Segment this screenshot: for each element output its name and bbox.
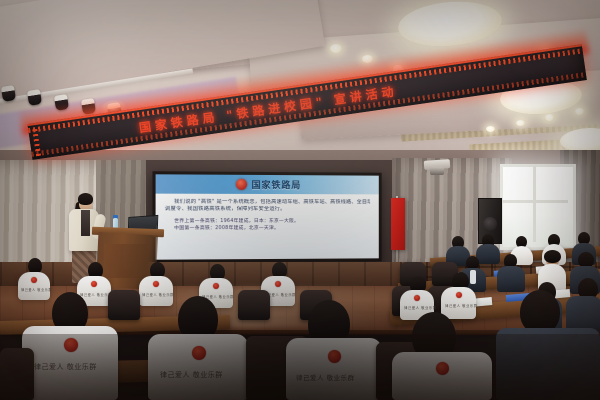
dress-shirt — [470, 270, 476, 284]
attendee-suit — [496, 328, 600, 400]
window-mullion — [533, 166, 536, 242]
downlight-icon — [545, 114, 554, 121]
attendee-suit — [566, 296, 600, 332]
slide-line: 调度令、我国铁路高铁系统，保障列车安全运行。 — [165, 206, 370, 214]
slide-title: 国家铁路局 — [252, 178, 302, 191]
stage-spotlight-icon — [27, 89, 42, 106]
school-emblem-icon — [414, 295, 420, 301]
student-shirt: 律己爱人 敬业乐群 — [139, 276, 173, 306]
attendee-suit — [476, 244, 500, 264]
slide-body: 我们说的 "高铁" 是一个系统概念，包括高速动车组、高铁车站、高铁线路、全自动化… — [156, 194, 379, 260]
seat-back — [238, 290, 270, 320]
student-shirt: 律己爱人 敬业乐群 — [22, 326, 118, 400]
downlight-icon — [575, 108, 584, 115]
school-emblem-icon — [436, 362, 449, 375]
presenter-inner-top — [81, 210, 90, 236]
window-rail — [502, 200, 568, 203]
attendee-hair — [544, 250, 561, 263]
seat-back — [108, 290, 140, 320]
projection-screen: 国家铁路局 我们说的 "高铁" 是一个系统概念，包括高速动车组、高铁车站、高铁线… — [156, 174, 379, 259]
downlight-icon — [516, 120, 525, 126]
student-shirt: 律己爱人 敬业乐群 — [18, 272, 50, 300]
school-emblem-icon — [153, 281, 159, 287]
school-emblem-icon — [456, 292, 462, 298]
attendee-suit — [497, 266, 525, 292]
chinese-national-flag — [391, 198, 405, 250]
speaker-cone-icon — [483, 217, 497, 231]
downlight-icon — [330, 44, 342, 53]
projection-screen-frame: 国家铁路局 我们说的 "高铁" 是一个系统概念，包括高速动车组、高铁车站、高铁线… — [152, 171, 381, 263]
projector — [430, 167, 444, 175]
school-emblem-icon — [31, 277, 37, 283]
student-shirt-motto: 律己爱人 敬业乐群 — [142, 292, 174, 297]
presenter-hair — [78, 193, 93, 205]
national-emblem-icon — [236, 179, 247, 190]
slide-header: 国家铁路局 — [156, 174, 379, 194]
student-shirt — [392, 352, 492, 400]
window — [500, 164, 576, 250]
school-emblem-icon — [275, 281, 281, 287]
student-shirt-motto: 律己爱人 敬业乐群 — [404, 305, 437, 310]
podium-front-panel — [104, 244, 148, 278]
student-shirt: 律己爱人 敬业乐群 — [286, 338, 382, 400]
school-emblem-icon — [328, 350, 341, 363]
slide-line: 中国第一条高铁：2008年建成，北京—天津。 — [165, 225, 370, 233]
seat-back — [0, 348, 34, 400]
school-emblem-icon — [91, 281, 97, 287]
lecture-hall-photo: 国家铁路局 "铁路进校园" 宣讲活动 国家铁路局 我们说的 "高铁" 是一个系统… — [0, 0, 600, 400]
stage-spotlight-icon — [1, 85, 16, 102]
school-emblem-icon — [192, 346, 206, 360]
student-shirt-motto: 律己爱人 敬业乐群 — [21, 287, 52, 292]
student-shirt: 律己爱人 敬业乐群 — [148, 334, 248, 400]
student-shirt-motto: 律己爱人 敬业乐群 — [34, 362, 97, 372]
student-shirt-motto: 律己爱人 敬业乐群 — [445, 303, 478, 308]
student-shirt-motto: 律己爱人 敬业乐群 — [160, 370, 223, 380]
downlight-icon — [486, 126, 495, 132]
student-shirt: 律己爱人 敬业乐群 — [441, 287, 476, 319]
school-emblem-icon — [64, 338, 78, 352]
student-shirt-motto: 律己爱人 敬业乐群 — [296, 372, 355, 382]
school-emblem-icon — [213, 283, 219, 289]
